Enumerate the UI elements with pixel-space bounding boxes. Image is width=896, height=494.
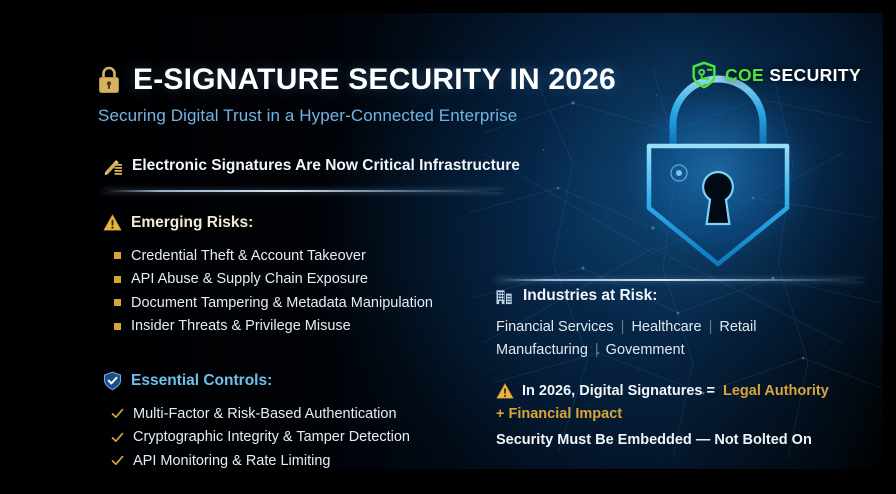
headline-block: E-SIGNATURE SECURITY IN 2026 Securing Di… <box>96 63 616 126</box>
risk-list: Credential Theft & Account Takeover API … <box>103 244 503 338</box>
industry-item-label: Healthcare <box>631 319 701 335</box>
industry-separator: | <box>588 342 606 358</box>
left-column: Electronic Signatures Are Now Critical I… <box>103 156 503 469</box>
square-bullet-icon <box>114 323 121 330</box>
list-item: Document Tampering & Metadata Manipulati… <box>103 291 503 315</box>
industries-list: Financial Services|Healthcare|RetailManu… <box>496 316 826 362</box>
right-column: Industries at Risk: Financial Services|H… <box>496 287 876 448</box>
risks-heading-row: Emerging Risks: <box>103 213 503 232</box>
brand-name-secondary: SECURITY <box>769 65 861 85</box>
industries-heading: Industries at Risk: <box>523 287 657 305</box>
brand-name: COE SECURITY <box>725 65 861 86</box>
list-item: API Abuse & Supply Chain Exposure <box>103 268 503 292</box>
checkmark-icon <box>111 407 124 420</box>
list-item: API Monitoring & Rate Limiting <box>103 449 503 469</box>
controls-heading-row: Essential Controls: <box>103 371 503 391</box>
checkmark-icon <box>111 454 124 467</box>
shield-check-icon <box>103 371 122 391</box>
shield-circuit-icon <box>689 60 719 90</box>
page-title: E-SIGNATURE SECURITY IN 2026 <box>133 63 616 97</box>
signature-pen-icon <box>103 156 123 176</box>
section-essential-controls: Essential Controls: Multi-Factor & Risk-… <box>103 371 503 469</box>
industry-item-label: Manufacturing <box>496 342 588 358</box>
industry-item-label: Retail <box>719 319 756 335</box>
controls-heading: Essential Controls: <box>131 372 272 390</box>
brand-logo[interactable]: COE SECURITY <box>689 60 861 90</box>
callout-line-2: + Financial Impact <box>496 406 876 422</box>
callout-line-3: Security Must Be Embedded — Not Bolted O… <box>496 432 876 448</box>
section-emerging-risks: Emerging Risks: Credential Theft & Accou… <box>103 213 503 338</box>
callout-line-1: In 2026, Digital Signatures = Legal Auth… <box>496 382 876 400</box>
risks-heading: Emerging Risks: <box>131 214 253 232</box>
industries-heading-row: Industries at Risk: <box>496 287 876 305</box>
warning-triangle-icon <box>103 213 122 232</box>
divider-right <box>495 279 863 281</box>
buildings-icon <box>496 287 515 305</box>
infrastructure-heading-row: Electronic Signatures Are Now Critical I… <box>103 156 503 176</box>
checkmark-icon <box>111 431 124 444</box>
list-item: Multi-Factor & Risk-Based Authentication <box>103 402 503 426</box>
list-item: Credential Theft & Account Takeover <box>103 244 503 268</box>
page-subtitle: Securing Digital Trust in a Hyper-Connec… <box>98 106 616 126</box>
control-item-label: Cryptographic Integrity & Tamper Detecti… <box>133 429 410 445</box>
padlock-icon <box>96 65 122 95</box>
glowing-padlock-shield-icon <box>603 68 833 283</box>
callout-block: In 2026, Digital Signatures = Legal Auth… <box>496 382 876 448</box>
square-bullet-icon <box>114 252 121 259</box>
section-infrastructure: Electronic Signatures Are Now Critical I… <box>103 156 503 176</box>
risk-item-label: API Abuse & Supply Chain Exposure <box>131 271 368 287</box>
brand-name-primary: COE <box>725 65 764 85</box>
square-bullet-icon <box>114 276 121 283</box>
risk-item-label: Document Tampering & Metadata Manipulati… <box>131 295 433 311</box>
warning-triangle-icon <box>496 382 514 400</box>
screenshot-frame: COE SECURITY E-SIGNATURE SECURITY IN 202… <box>0 0 896 494</box>
list-item: Insider Threats & Privilege Misuse <box>103 315 503 339</box>
list-item: Cryptographic Integrity & Tamper Detecti… <box>103 426 503 450</box>
industry-separator: | <box>702 319 720 335</box>
infrastructure-heading: Electronic Signatures Are Now Critical I… <box>132 157 520 175</box>
control-item-label: API Monitoring & Rate Limiting <box>133 453 330 469</box>
square-bullet-icon <box>114 299 121 306</box>
risk-item-label: Insider Threats & Privilege Misuse <box>131 318 351 334</box>
industry-item-label: Govemment <box>606 342 685 358</box>
callout-line-1-white: In 2026, Digital Signatures = <box>522 383 715 399</box>
risk-item-label: Credential Theft & Account Takeover <box>131 248 366 264</box>
industry-item-label: Financial Services <box>496 319 614 335</box>
infographic-canvas: COE SECURITY E-SIGNATURE SECURITY IN 202… <box>13 13 883 469</box>
control-item-label: Multi-Factor & Risk-Based Authentication <box>133 406 397 422</box>
title-row: E-SIGNATURE SECURITY IN 2026 <box>96 63 616 97</box>
industry-separator: | <box>614 319 632 335</box>
callout-line-1-gold: Legal Authority <box>723 383 829 399</box>
controls-list: Multi-Factor & Risk-Based Authentication… <box>103 402 503 469</box>
